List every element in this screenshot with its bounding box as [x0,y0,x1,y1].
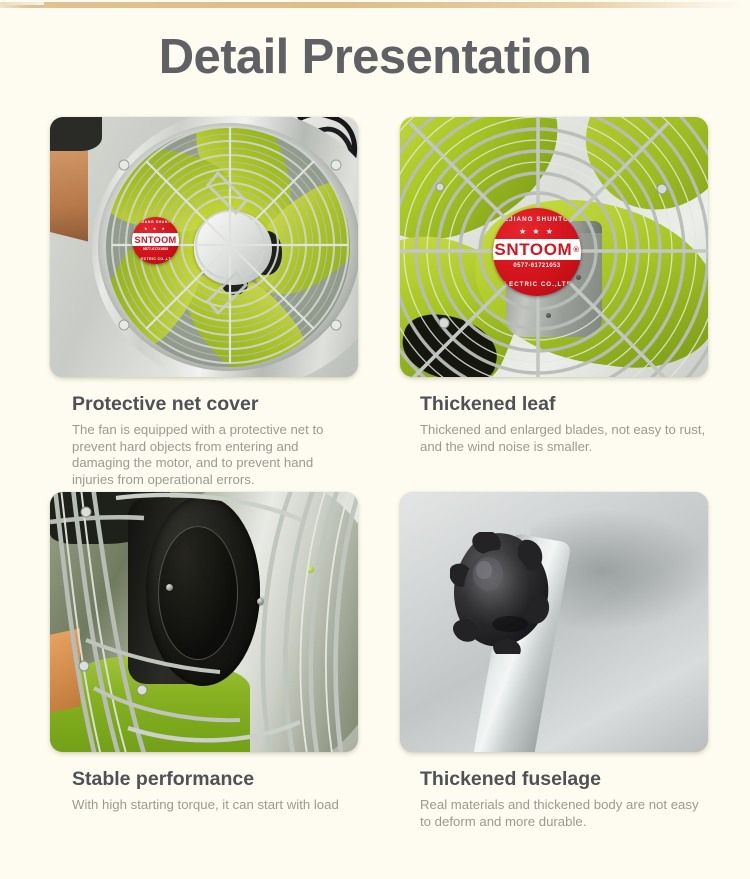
brand-stars: ★ ★ ★ [132,226,179,231]
tightening-knob-icon [450,532,558,654]
feature-description: Real materials and thickened body are no… [400,797,708,830]
registered-mark: ® [573,245,579,254]
fan-hub-plate [194,211,272,285]
brand-hub-label: ZHEJIANG SHUNTONG ★ ★ ★ SNTOOM® 0577-617… [493,208,581,296]
feature-title: Protective net cover [50,392,358,416]
brand-arc-top: ZHEJIANG SHUNTONG [493,216,581,223]
hub-screw [576,275,581,280]
feature-description: The fan is equipped with a protective ne… [50,422,358,488]
motor-screw [257,598,264,605]
feature-title: Thickened fuselage [400,767,708,791]
dark-corner-shape [50,117,102,151]
motor-screw [166,584,173,591]
brand-arc-bottom: ELECTRIC CO.,LTD. [493,281,581,288]
top-accent-band [0,2,750,8]
product-photo-protective-net-cover[interactable]: ZHEJIANG SHUNTONG ★ ★ ★ SNTOOM 0577-6172… [50,117,358,377]
brand-hub-label: ZHEJIANG SHUNTONG ★ ★ ★ SNTOOM 0577-6172… [132,217,179,264]
brand-name-text: SNTOOM [494,240,572,260]
brand-phone: 0577-61721053 [493,263,581,269]
top-accent-band-highlight [0,2,44,5]
motor-housing-inner-ring [158,526,238,660]
page-title: Detail Presentation [0,26,750,88]
brand-stars: ★ ★ ★ [493,227,581,236]
brand-arc-top: ZHEJIANG SHUNTONG [132,220,179,224]
feature-description: With high starting torque, it can start … [50,797,358,814]
feature-title: Stable performance [50,767,358,791]
product-photo-stable-performance[interactable] [50,492,358,752]
brand-arc-bottom: ELECTRIC CO.,LTD. [132,257,179,261]
feature-card-stable-performance[interactable]: Stable performance With high starting to… [50,492,358,814]
product-photo-thickened-fuselage[interactable] [400,492,708,752]
feature-description: Thickened and enlarged blades, not easy … [400,422,708,455]
indicator-light-icon [307,566,314,573]
wood-floor-strip [50,628,80,713]
feature-card-protective-net-cover[interactable]: ZHEJIANG SHUNTONG ★ ★ ★ SNTOOM 0577-6172… [50,117,358,488]
brand-name: SNTOOM® [493,239,581,260]
feature-card-thickened-fuselage[interactable]: Thickened fuselage Real materials and th… [400,492,708,830]
brand-name: SNTOOM [132,233,179,246]
brand-phone: 0577-61721053 [132,247,179,251]
hub-screw [546,313,551,318]
feature-card-thickened-leaf[interactable]: ZHEJIANG SHUNTONG ★ ★ ★ SNTOOM® 0577-617… [400,117,708,455]
product-photo-thickened-leaf[interactable]: ZHEJIANG SHUNTONG ★ ★ ★ SNTOOM® 0577-617… [400,117,708,377]
feature-title: Thickened leaf [400,392,708,416]
